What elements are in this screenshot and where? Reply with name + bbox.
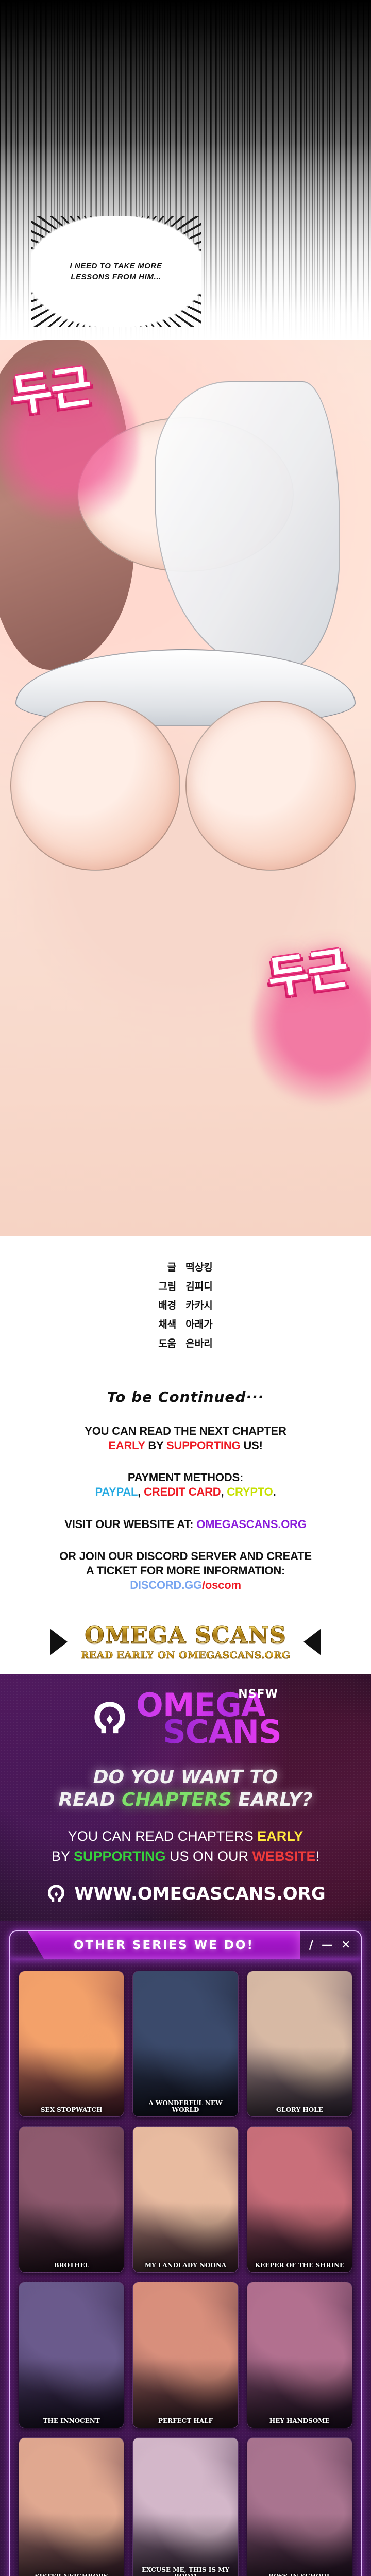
visit-website-label: VISIT OUR WEBSITE AT: [64, 1518, 196, 1531]
series-card[interactable]: MY LANDLADY NOONA [132, 2126, 238, 2273]
gold-logo-subtitle: READ EARLY ON OMEGASCANS.ORG [81, 1650, 291, 1661]
credits-row: 도움 은바리 [158, 1333, 212, 1352]
series-cover-shade [19, 2514, 124, 2576]
credits-role: 배경 [158, 1295, 185, 1314]
credits-name: 카카시 [185, 1295, 212, 1314]
comic-panel-speedlines: I NEED TO TAKE MORE LESSONS FROM HIM... [0, 0, 371, 340]
series-window-body: SEX STOPWATCHA WONDERFUL NEW WORLDGLORY … [9, 1959, 362, 2576]
visit-website-url[interactable]: OMEGASCANS.ORG [196, 1518, 307, 1531]
credits-block: 글 떡상킹 그림 김피디 배경 카카시 채색 아래가 도움 은바리 [0, 1236, 371, 1366]
series-card[interactable]: SISTER NEIGHBORS [19, 2437, 124, 2576]
series-card[interactable]: THE INNOCENT [19, 2282, 124, 2428]
series-window-notch [10, 1931, 28, 1959]
nsfw-subtext-line-1: YOU CAN READ CHAPTERS EARLY [9, 1826, 362, 1846]
gold-logo-band: OMEGA SCANS READ EARLY ON OMEGASCANS.ORG [0, 1613, 371, 1674]
triangle-left-icon [303, 1629, 321, 1655]
gold-logo-title: OMEGA SCANS [81, 1622, 291, 1649]
gold-logo: OMEGA SCANS READ EARLY ON OMEGASCANS.ORG [81, 1622, 291, 1661]
series-grid: SEX STOPWATCHA WONDERFUL NEW WORLDGLORY … [19, 1971, 352, 2576]
credits-role: 글 [158, 1257, 185, 1276]
nsfw-sub-supporting: SUPPORTING [74, 1849, 166, 1864]
nsfw-sub-read: YOU CAN READ CHAPTERS [68, 1828, 258, 1844]
promo-line-1-text: YOU CAN READ THE NEXT CHAPTER [85, 1425, 286, 1437]
promo-us: US! [241, 1439, 263, 1452]
credits-row: 그림 김피디 [158, 1276, 212, 1295]
credits-row: 채색 아래가 [158, 1314, 212, 1333]
omega-logo-icon [90, 1699, 130, 1739]
promo-supporting: SUPPORTING [166, 1439, 240, 1452]
series-card[interactable]: EXCUSE ME, THIS IS MY ROOM [132, 2437, 238, 2576]
series-card[interactable]: BOSS IN SCHOOL [247, 2437, 352, 2576]
character-body-right [185, 701, 356, 871]
series-window-title: OTHER SERIES WE DO! [74, 1939, 254, 1952]
discord-url-line[interactable]: DISCORD.GG/oscom [12, 1578, 359, 1592]
series-card[interactable]: GLORY HOLE [247, 1971, 352, 2117]
nsfw-scans-line: SCANS [136, 1719, 281, 1745]
payment-methods-label: PAYMENT METHODS: [12, 1470, 359, 1485]
credits-table: 글 떡상킹 그림 김피디 배경 카카시 채색 아래가 도움 은바리 [158, 1257, 212, 1352]
credits-row: 배경 카카시 [158, 1295, 212, 1314]
nsfw-headline-early: EARLY? [232, 1789, 313, 1810]
series-cover-title: MY LANDLADY NOONA [133, 2262, 238, 2272]
payment-crypto: CRYPTO [227, 1485, 273, 1498]
series-window-controls: / — ✕ [300, 1931, 361, 1959]
credits-role: 도움 [158, 1333, 185, 1352]
promo-by: BY [145, 1439, 166, 1452]
nsfw-website-url[interactable]: WWW.OMEGASCANS.ORG [74, 1884, 325, 1904]
series-card[interactable]: BROTHEL [19, 2126, 124, 2273]
nsfw-headline: DO YOU WANT TO READ CHAPTERS EARLY? [0, 1766, 371, 1826]
series-window-title-plate: OTHER SERIES WE DO! [28, 1931, 300, 1959]
credits-name: 은바리 [185, 1333, 212, 1352]
promo-line-2: EARLY BY SUPPORTING US! [12, 1438, 359, 1453]
triangle-right-icon [50, 1629, 68, 1655]
series-cover-shade [247, 2514, 352, 2576]
series-cover-title: KEEPER OF THE SHRINE [247, 2262, 352, 2272]
nsfw-headline-line-1: DO YOU WANT TO [10, 1766, 361, 1788]
comic-panel-artwork: 두근 두근 [0, 340, 371, 1236]
promo-line-1: YOU CAN READ THE NEXT CHAPTER [12, 1424, 359, 1438]
nsfw-subtext: YOU CAN READ CHAPTERS EARLY BY SUPPORTIN… [0, 1826, 371, 1870]
series-cover-title: SISTER NEIGHBORS [19, 2573, 124, 2576]
series-cover-title: A WONDERFUL NEW WORLD [133, 2100, 238, 2116]
credits-row: 글 떡상킹 [158, 1257, 212, 1276]
webtoon-chapter-page: I NEED TO TAKE MORE LESSONS FROM HIM... … [0, 0, 371, 2576]
character-body-left [10, 701, 180, 871]
speech-bubble: I NEED TO TAKE MORE LESSONS FROM HIM... [31, 216, 201, 327]
series-card[interactable]: PERFECT HALF [132, 2282, 238, 2428]
series-card[interactable]: HEY HANDSOME [247, 2282, 352, 2428]
discord-domain[interactable]: DISCORD.GG [130, 1579, 202, 1591]
series-card[interactable]: SEX STOPWATCH [19, 1971, 124, 2117]
omega-logo-small-icon [45, 1883, 67, 1905]
nsfw-subtext-line-2: BY SUPPORTING US ON OUR WEBSITE! [9, 1846, 362, 1867]
series-cover-title: PERFECT HALF [133, 2418, 238, 2428]
discord-line-2: A TICKET FOR MORE INFORMATION: [12, 1564, 359, 1578]
nsfw-scans-text: SCANS [163, 1713, 281, 1751]
discord-path[interactable]: /oscom [202, 1579, 241, 1591]
credits-name: 김피디 [185, 1276, 212, 1295]
series-cover-title: SEX STOPWATCH [19, 2107, 124, 2116]
credits-name: 아래가 [185, 1314, 212, 1333]
promo-visit-website: VISIT OUR WEBSITE AT: OMEGASCANS.ORG [12, 1517, 359, 1532]
nsfw-headline-chapters: CHAPTERS [122, 1789, 232, 1810]
series-cover-title: GLORY HOLE [247, 2107, 352, 2116]
promo-early: EARLY [108, 1439, 145, 1452]
nsfw-promo-banner: OMEGA SCANS NSFW DO YOU WANT TO READ CHA… [0, 1674, 371, 1921]
restore-icon[interactable]: / [309, 1940, 313, 1951]
payment-methods-list: PAYPAL, CREDIT CARD, CRYPTO. [12, 1485, 359, 1499]
promo-payment-methods: PAYMENT METHODS: PAYPAL, CREDIT CARD, CR… [12, 1470, 359, 1499]
nsfw-sub-bang: ! [316, 1849, 320, 1864]
series-card[interactable]: A WONDERFUL NEW WORLD [132, 1971, 238, 2117]
series-cover-title: BROTHEL [19, 2262, 124, 2272]
character-garment-upper [155, 381, 340, 670]
sfx-text-right: 두근 [265, 948, 350, 999]
close-icon[interactable]: ✕ [341, 1940, 350, 1951]
discord-line-1: OR JOIN OUR DISCORD SERVER AND CREATE [12, 1549, 359, 1564]
payment-credit-card: CREDIT CARD [144, 1485, 221, 1498]
credits-role: 그림 [158, 1276, 185, 1295]
series-cover-title: EXCUSE ME, THIS IS MY ROOM [133, 2567, 238, 2576]
promo-text-block: YOU CAN READ THE NEXT CHAPTER EARLY BY S… [0, 1411, 371, 1613]
nsfw-sub-early: EARLY [257, 1828, 303, 1844]
to-be-continued-block: To be Continued··· [0, 1366, 371, 1411]
series-window-titlebar: OTHER SERIES WE DO! / — ✕ [9, 1930, 362, 1959]
speech-bubble-text: I NEED TO TAKE MORE LESSONS FROM HIM... [31, 216, 201, 327]
series-cover-title: THE INNOCENT [19, 2418, 124, 2428]
series-cover-title: BOSS IN SCHOOL [247, 2573, 352, 2576]
credits-name: 떡상킹 [185, 1257, 212, 1276]
promo-next-chapter: YOU CAN READ THE NEXT CHAPTER EARLY BY S… [12, 1424, 359, 1453]
visit-website-line: VISIT OUR WEBSITE AT: OMEGASCANS.ORG [12, 1517, 359, 1532]
credits-role: 채색 [158, 1314, 185, 1333]
nsfw-headline-read: READ [58, 1789, 122, 1810]
nsfw-sub-website: WEBSITE [252, 1849, 316, 1864]
promo-discord: OR JOIN OUR DISCORD SERVER AND CREATE A … [12, 1549, 359, 1592]
nsfw-tag-text: NSFW [238, 1690, 278, 1699]
to-be-continued-text: To be Continued··· [107, 1388, 264, 1405]
nsfw-logo-row: OMEGA SCANS NSFW [0, 1692, 371, 1766]
payment-paypal: PAYPAL [95, 1485, 138, 1498]
nsfw-headline-line-2: READ CHAPTERS EARLY? [10, 1789, 361, 1811]
nsfw-wordmark: OMEGA SCANS NSFW [136, 1692, 281, 1745]
series-card[interactable]: KEEPER OF THE SHRINE [247, 2126, 352, 2273]
series-cover-title: HEY HANDSOME [247, 2418, 352, 2428]
nsfw-sub-us: US ON OUR [166, 1849, 252, 1864]
minimize-icon[interactable]: — [322, 1940, 333, 1951]
nsfw-url-row[interactable]: WWW.OMEGASCANS.ORG [0, 1870, 371, 1908]
other-series-window: OTHER SERIES WE DO! / — ✕ SEX STOPWATCHA… [0, 1921, 371, 2576]
sfx-text-left: 두근 [9, 366, 93, 417]
nsfw-sub-by: BY [52, 1849, 74, 1864]
